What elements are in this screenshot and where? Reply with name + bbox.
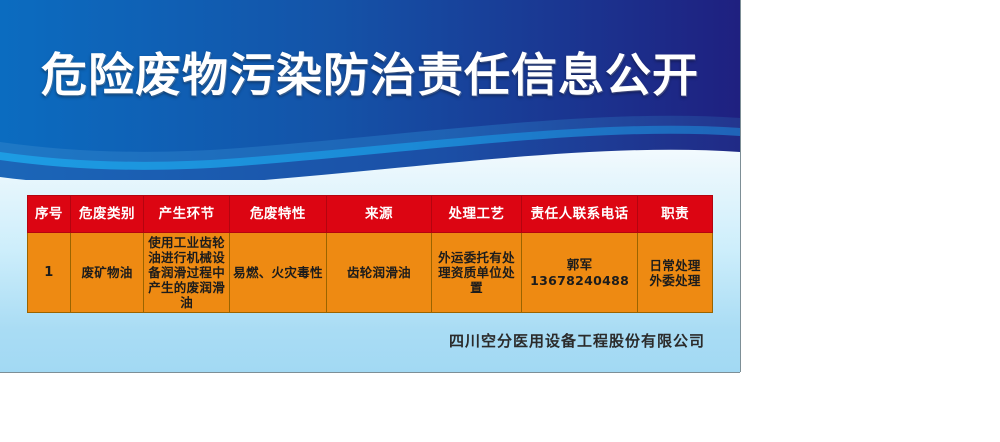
- cell-category: 废矿物油: [70, 233, 143, 313]
- page-title: 危险废物污染防治责任信息公开: [0, 48, 740, 102]
- table-header-row: 序号 危废类别 产生环节 危废特性 来源 处理工艺 责任人联系电话 职责: [28, 196, 713, 233]
- duty-line-2: 外委处理: [640, 273, 710, 288]
- cell-contact: 郭军 13678240488: [521, 233, 637, 313]
- duty-line-1: 日常处理: [640, 258, 710, 273]
- cell-stage: 使用工业齿轮油进行机械设备润滑过程中产生的废润滑油: [144, 233, 230, 313]
- column-header-category: 危废类别: [70, 196, 143, 233]
- contact-person-phone: 13678240488: [524, 273, 635, 289]
- poster-board: 危险废物污染防治责任信息公开 序号 危废类别 产生环节 危废特性 来源 处理工艺…: [0, 0, 740, 372]
- column-header-seq: 序号: [28, 196, 71, 233]
- contact-person-name: 郭军: [524, 257, 635, 273]
- column-header-source: 来源: [326, 196, 431, 233]
- column-header-duty: 职责: [638, 196, 713, 233]
- cell-source: 齿轮润滑油: [326, 233, 431, 313]
- column-header-process: 处理工艺: [432, 196, 522, 233]
- column-header-stage: 产生环节: [144, 196, 230, 233]
- cell-duty: 日常处理 外委处理: [638, 233, 713, 313]
- cell-seq: 1: [28, 233, 71, 313]
- column-header-property: 危废特性: [230, 196, 327, 233]
- column-header-contact: 责任人联系电话: [521, 196, 637, 233]
- company-name: 四川空分医用设备工程股份有限公司: [27, 330, 713, 351]
- table-row: 1 废矿物油 使用工业齿轮油进行机械设备润滑过程中产生的废润滑油 易燃、火灾毒性…: [28, 233, 713, 313]
- cell-property: 易燃、火灾毒性: [230, 233, 327, 313]
- hazardous-waste-table: 序号 危废类别 产生环节 危废特性 来源 处理工艺 责任人联系电话 职责 1 废…: [27, 195, 713, 313]
- cell-process: 外运委托有处理资质单位处置: [432, 233, 522, 313]
